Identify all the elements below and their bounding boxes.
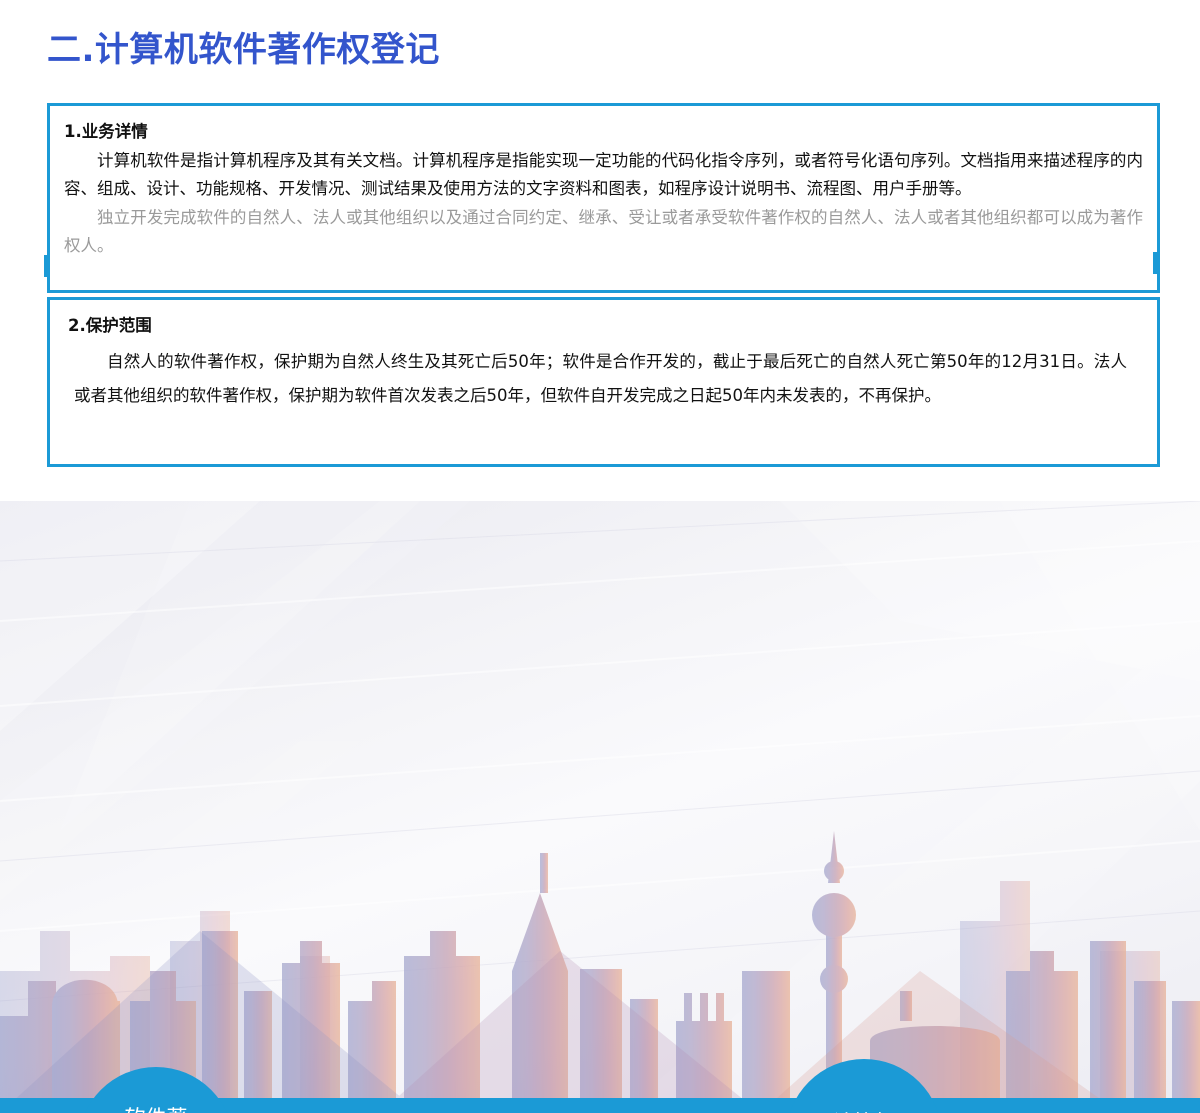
- protection-scope-heading: 2.保护范围: [50, 300, 1157, 339]
- business-detail-body: 计算机软件是指计算机程序及其有关文档。计算机程序是指能实现一定功能的代码化指令序…: [50, 145, 1157, 261]
- protection-scope-paragraph-1: 自然人的软件著作权，保护期为自然人终生及其死亡后50年；软件是合作开发的，截止于…: [74, 345, 1127, 413]
- box-edge-notch-right: [1153, 252, 1159, 274]
- business-detail-heading: 1.业务详情: [50, 106, 1157, 145]
- protection-scope-body: 自然人的软件著作权，保护期为自然人终生及其死亡后50年；软件是合作开发的，截止于…: [50, 339, 1157, 413]
- business-detail-paragraph-2: 独立开发完成软件的自然人、法人或其他组织以及通过合同约定、继承、受让或者承受软件…: [64, 204, 1143, 261]
- protection-scope-box: 2.保护范围 自然人的软件著作权，保护期为自然人终生及其死亡后50年；软件是合作…: [47, 297, 1160, 467]
- box-edge-notch-left: [44, 255, 50, 277]
- document-area: 二.计算机软件著作权登记 1.业务详情 计算机软件是指计算机程序及其有关文档。计…: [0, 0, 1200, 501]
- business-detail-paragraph-1: 计算机软件是指计算机程序及其有关文档。计算机程序是指能实现一定功能的代码化指令序…: [64, 147, 1143, 204]
- business-detail-box: 1.业务详情 计算机软件是指计算机程序及其有关文档。计算机程序是指能实现一定功能…: [47, 103, 1160, 293]
- infographic-area: 所需要 的材料 软件著 作权登记 申请表 软件 源代码 软件使 用说明书 或操作…: [0, 501, 1200, 1113]
- page-root: 二.计算机软件著作权登记 1.业务详情 计算机软件是指计算机程序及其有关文档。计…: [0, 0, 1200, 1113]
- page-title: 二.计算机软件著作权登记: [47, 22, 440, 71]
- background-decoration: [0, 501, 1200, 1113]
